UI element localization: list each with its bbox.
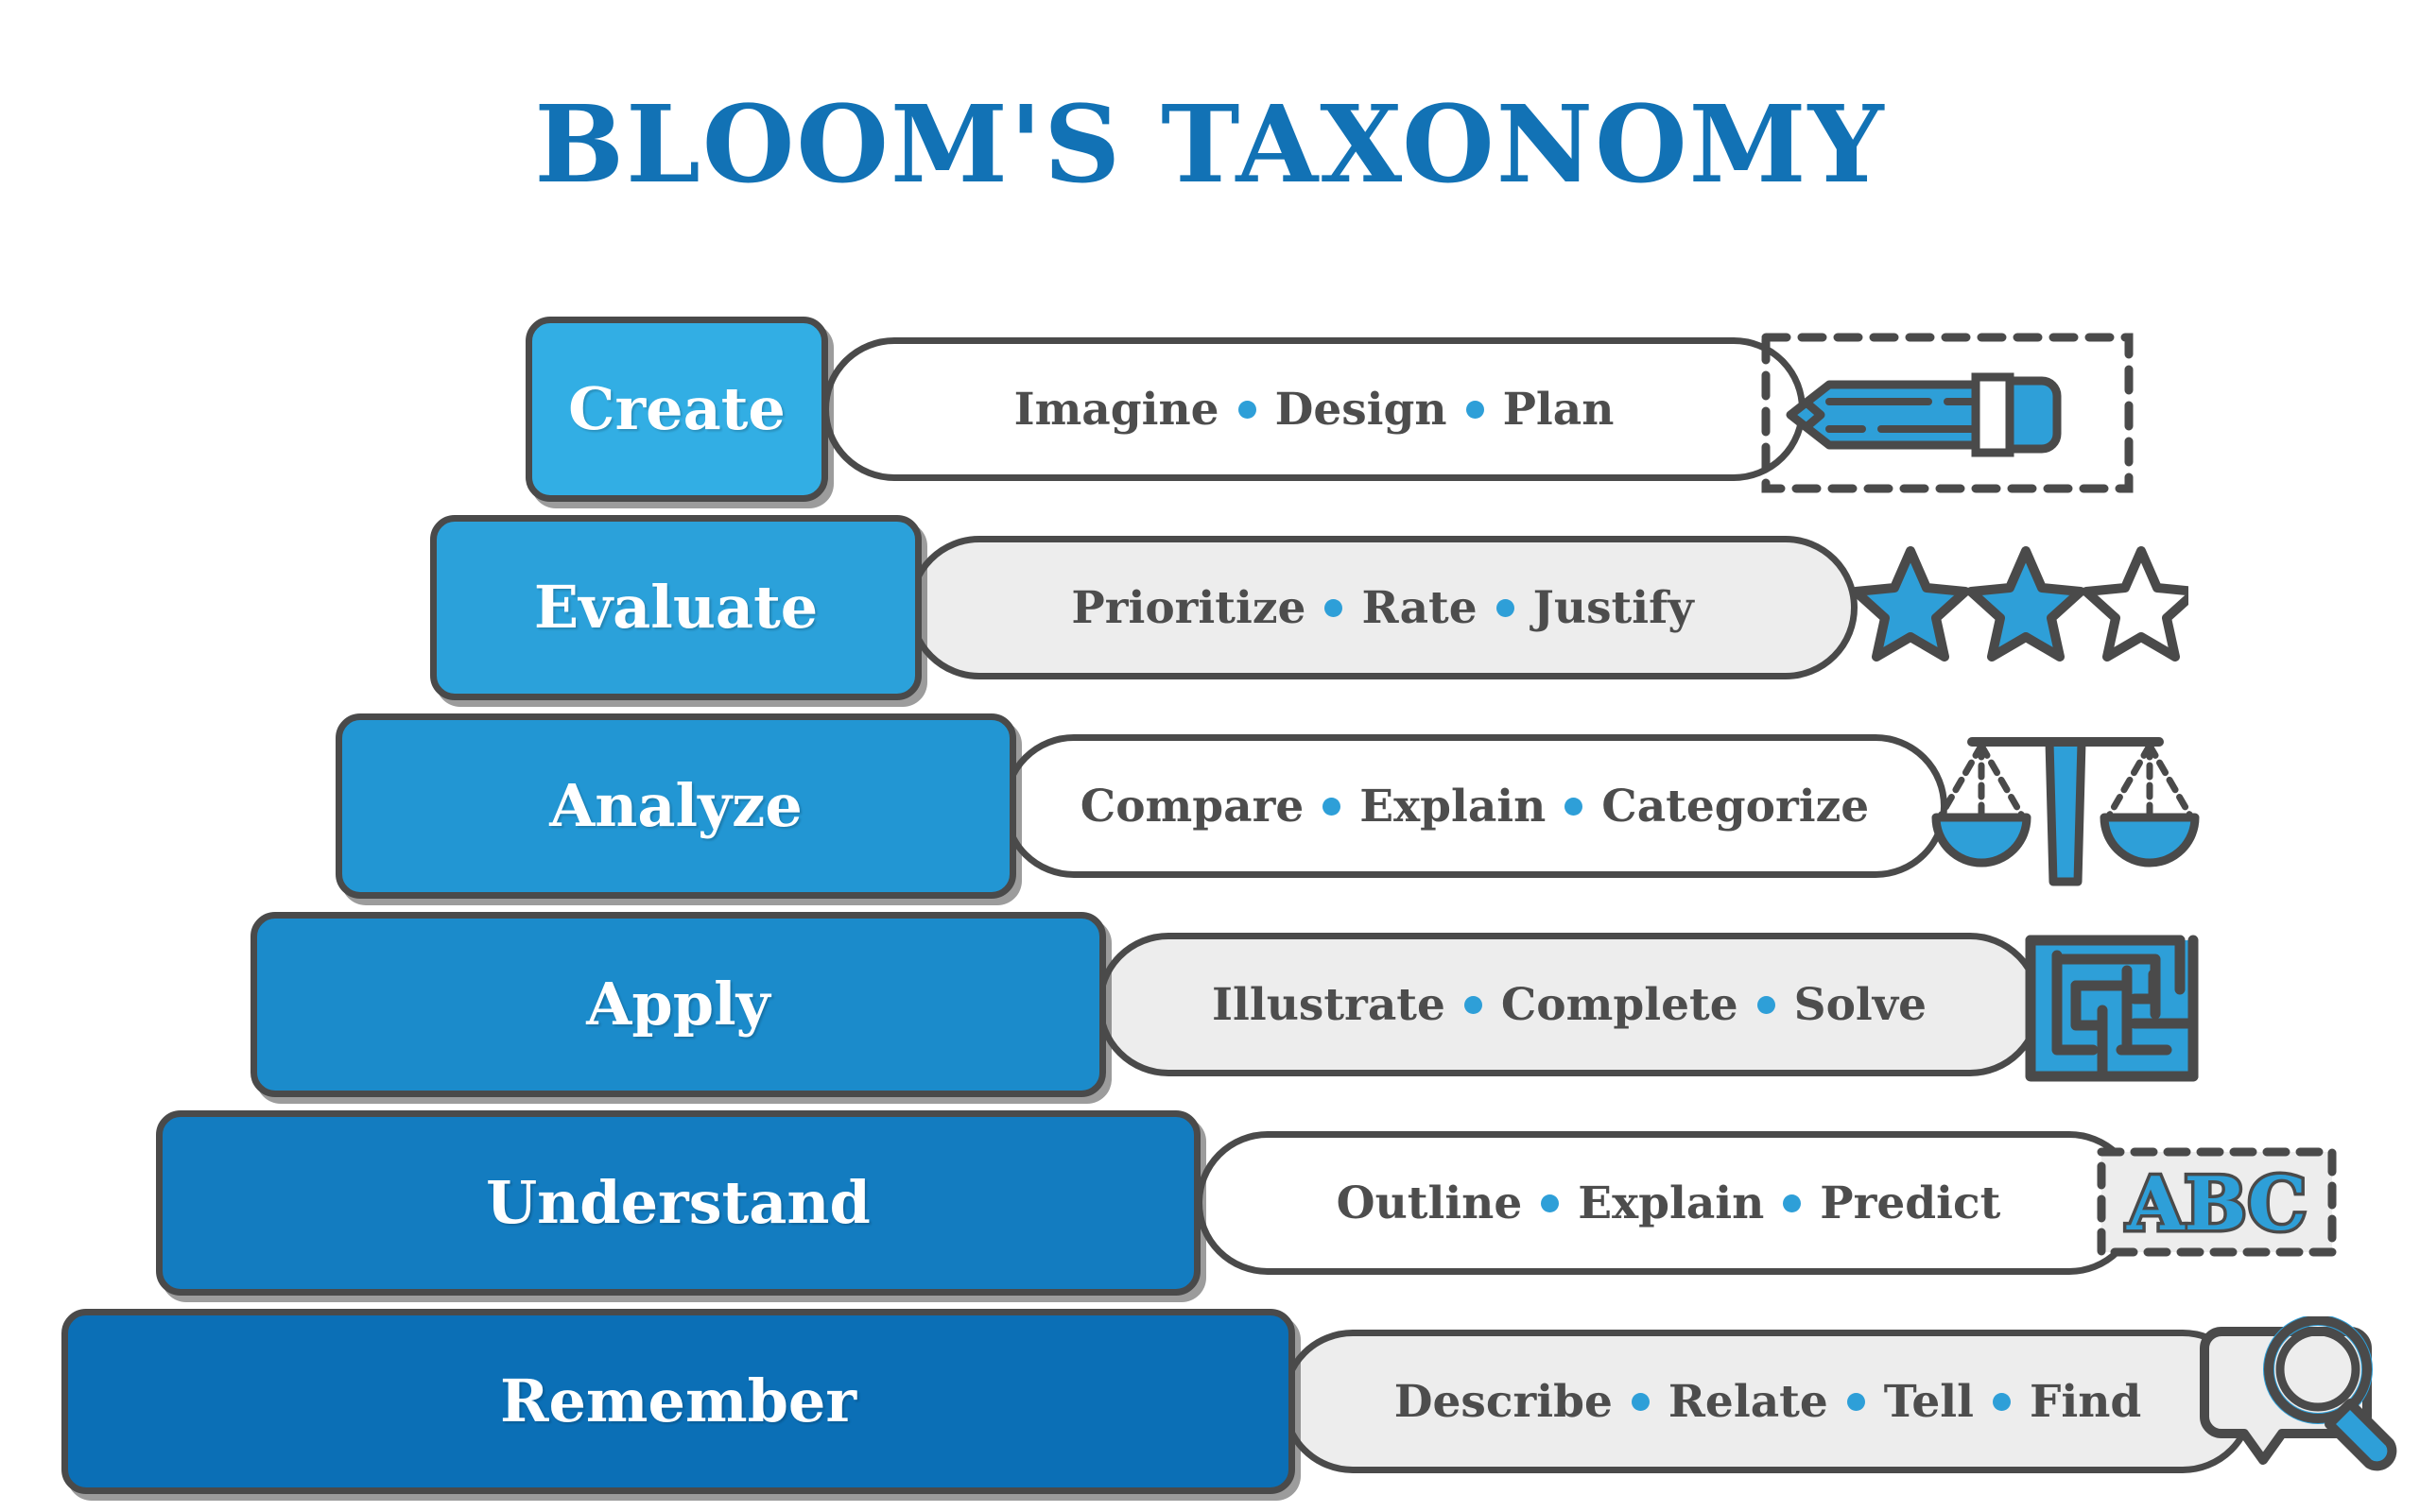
- verbs-pill-create: Imagine Design Plan: [822, 337, 1806, 481]
- bullet-dot-icon: [1564, 798, 1582, 816]
- abc-icon: ABC: [2094, 1131, 2340, 1273]
- verbs-pill-evaluate: Prioritize Rate Justify: [907, 536, 1858, 679]
- verb-label: Complete: [1501, 983, 1738, 1027]
- bullet-dot-icon: [1496, 599, 1514, 617]
- verb-label: Find: [2030, 1380, 2141, 1424]
- verb-label: Explain: [1359, 784, 1546, 829]
- step-label: Understand: [486, 1174, 871, 1232]
- verb-label: Describe: [1394, 1380, 1613, 1424]
- step-label: Evaluate: [534, 578, 818, 637]
- verbs-pill-analyze: Compare Explain Categorize: [1002, 734, 1947, 878]
- pencil-icon: [1758, 328, 2136, 498]
- pyramid-step-create[interactable]: Create: [526, 317, 828, 502]
- step-label: Apply: [586, 975, 769, 1034]
- page-title: BLOOM'S TAXONOMY: [0, 93, 2420, 198]
- taxonomy-row-evaluate: Prioritize Rate Justify Evaluate: [0, 515, 2420, 713]
- icon-magnifier-container: [2184, 1316, 2411, 1505]
- bullet-dot-icon: [1783, 1194, 1801, 1212]
- step-label: Analyze: [549, 777, 803, 835]
- verbs-list-remember: Describe Relate Tell Find: [1394, 1380, 2141, 1424]
- stars-rating-icon: [1848, 534, 2188, 676]
- taxonomy-row-remember: Describe Relate Tell Find Remember: [0, 1309, 2420, 1507]
- taxonomy-row-understand: Outline Explain Predict Understand ABC: [0, 1110, 2420, 1309]
- bullet-dot-icon: [1993, 1393, 2011, 1411]
- verbs-pill-understand: Outline Explain Predict: [1196, 1131, 2141, 1275]
- step-label: Remember: [500, 1372, 856, 1431]
- verbs-pill-apply: Illustrate Complete Solve: [1097, 933, 2042, 1076]
- bullet-dot-icon: [1847, 1393, 1865, 1411]
- bullet-dot-icon: [1466, 401, 1484, 419]
- verb-label: Outline: [1337, 1181, 1523, 1226]
- icon-abc-container: ABC: [2094, 1131, 2340, 1273]
- verb-label: Predict: [1820, 1181, 2000, 1226]
- pyramid-step-apply[interactable]: Apply: [251, 912, 1106, 1097]
- verb-label: Rate: [1361, 586, 1477, 630]
- bullet-dot-icon: [1464, 996, 1482, 1014]
- icon-stars-container: [1848, 534, 2188, 676]
- icon-scales-container: [1928, 725, 2203, 895]
- verb-label: Imagine: [1014, 387, 1219, 432]
- verb-label: Illustrate: [1212, 983, 1445, 1027]
- infographic-canvas: BLOOM'S TAXONOMY Imagine Design Plan Cre…: [0, 0, 2420, 1512]
- verb-label: Explain: [1578, 1181, 1764, 1226]
- step-label: Create: [568, 380, 786, 438]
- taxonomy-row-apply: Illustrate Complete Solve Apply: [0, 912, 2420, 1110]
- pyramid-step-remember[interactable]: Remember: [61, 1309, 1295, 1494]
- verb-label: Solve: [1794, 983, 1927, 1027]
- maze-icon: [2023, 933, 2212, 1084]
- pyramid-step-evaluate[interactable]: Evaluate: [430, 515, 922, 700]
- verbs-list-understand: Outline Explain Predict: [1337, 1181, 2001, 1226]
- bullet-dot-icon: [1324, 599, 1342, 617]
- verbs-pill-remember: Describe Relate Tell Find: [1281, 1330, 2255, 1473]
- bullet-dot-icon: [1541, 1194, 1559, 1212]
- bullet-dot-icon: [1757, 996, 1775, 1014]
- verbs-list-create: Imagine Design Plan: [1014, 387, 1615, 432]
- verbs-list-apply: Illustrate Complete Solve: [1212, 983, 1927, 1027]
- pyramid-step-understand[interactable]: Understand: [156, 1110, 1201, 1296]
- bullet-dot-icon: [1238, 401, 1256, 419]
- verb-label: Categorize: [1601, 784, 1869, 829]
- verb-label: Prioritize: [1071, 586, 1305, 630]
- taxonomy-row-create: Imagine Design Plan Create: [0, 317, 2420, 515]
- verb-label: Plan: [1503, 387, 1615, 432]
- bullet-dot-icon: [1632, 1393, 1650, 1411]
- verb-label: Relate: [1668, 1380, 1828, 1424]
- bullet-dot-icon: [1322, 798, 1340, 816]
- verb-label: Justify: [1533, 586, 1694, 630]
- verb-label: Design: [1275, 387, 1447, 432]
- abc-icon-label: ABC: [2126, 1161, 2307, 1247]
- verbs-list-analyze: Compare Explain Categorize: [1080, 784, 1869, 829]
- verbs-list-evaluate: Prioritize Rate Justify: [1071, 586, 1693, 630]
- balance-scales-icon: [1928, 725, 2203, 895]
- icon-pencil-container: [1758, 328, 2136, 498]
- verb-label: Tell: [1884, 1380, 1974, 1424]
- magnifier-speech-bubble-icon: [2184, 1316, 2411, 1505]
- verb-label: Compare: [1080, 784, 1304, 829]
- taxonomy-row-analyze: Compare Explain Categorize Analyze: [0, 713, 2420, 912]
- pyramid-step-analyze[interactable]: Analyze: [336, 713, 1016, 899]
- icon-maze-container: [2023, 933, 2212, 1084]
